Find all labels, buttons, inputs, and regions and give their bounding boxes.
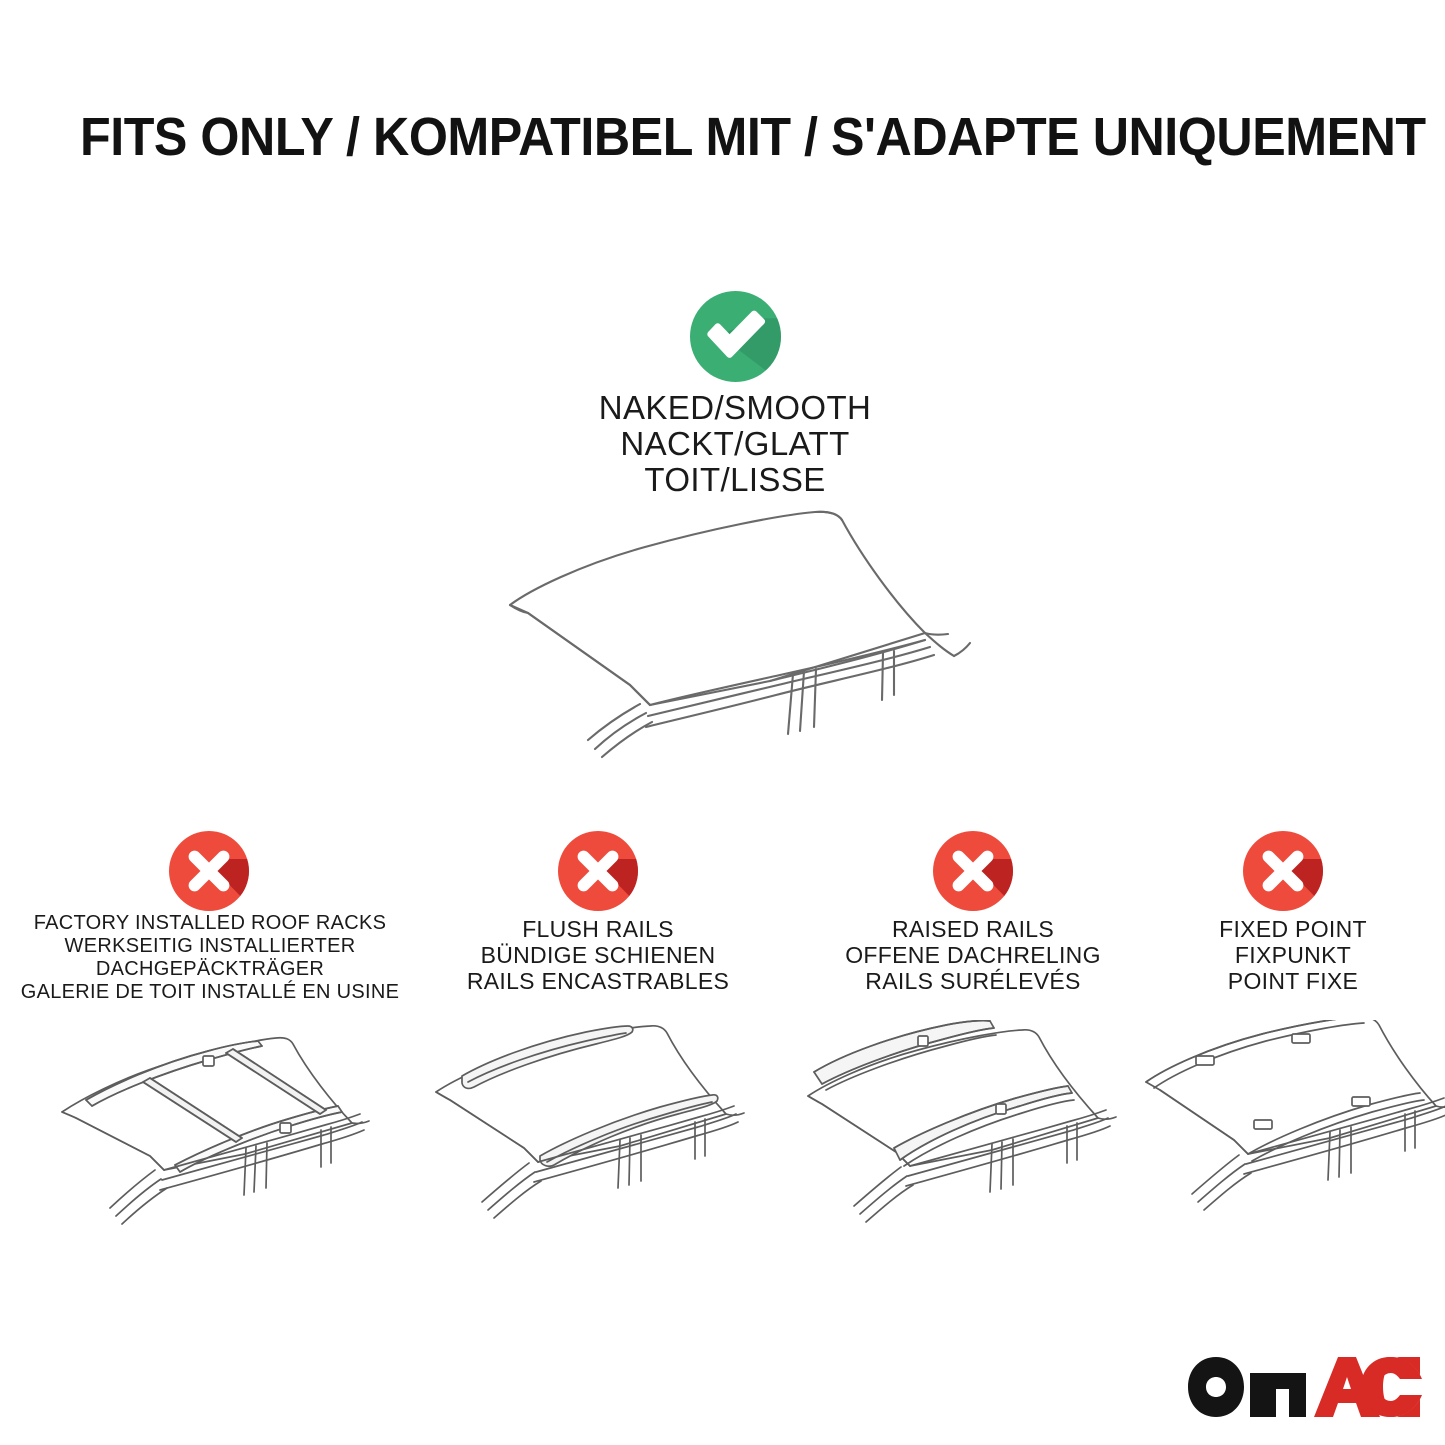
compatible-label-line-1: NAKED/SMOOTH [485,390,985,426]
raised-rails-illustration [790,1020,1140,1235]
logo-letter-c [1361,1357,1422,1417]
naked-smooth-roof-illustration [470,495,1010,765]
compatible-label: NAKED/SMOOTH NACKT/GLATT TOIT/LISSE [485,390,985,498]
factory-roof-rack-illustration [40,1020,390,1235]
label-line-4: GALERIE DE TOIT INSTALLÉ EN USINE [10,981,410,1004]
logo-letter-o [1188,1357,1244,1417]
x-circle-icon-factory-racks [169,831,249,911]
label-line-2: BÜNDIGE SCHIENEN [428,942,768,968]
x-circle-icon-fixed-point [1243,831,1323,911]
page-title: FITS ONLY / KOMPATIBEL MIT / S'ADAPTE UN… [80,106,1280,168]
label-line-2: OFFENE DACHRELING [798,942,1148,968]
flush-rails-label: FLUSH RAILS BÜNDIGE SCHIENEN RAILS ENCAS… [428,916,768,994]
fixed-point-label: FIXED POINT FIXPUNKT POINT FIXE [1133,916,1445,994]
raised-rails-label: RAISED RAILS OFFENE DACHRELING RAILS SUR… [798,916,1148,994]
fixed-point-illustration [1140,1020,1445,1235]
label-line-1: FIXED POINT [1133,916,1445,942]
label-line-2: WERKSEITIG INSTALLIERTER [10,935,410,958]
label-line-1: RAISED RAILS [798,916,1148,942]
compatible-label-line-2: NACKT/GLATT [485,426,985,462]
flush-rails-illustration [420,1020,770,1235]
label-line-3: RAILS ENCASTRABLES [428,968,768,994]
omac-logo [1186,1355,1422,1419]
label-line-3: RAILS SURÉLEVÉS [798,968,1148,994]
compatibility-infographic: FITS ONLY / KOMPATIBEL MIT / S'ADAPTE UN… [0,0,1445,1445]
compatible-label-line-3: TOIT/LISSE [485,462,985,498]
label-line-1: FLUSH RAILS [428,916,768,942]
factory-installed-roof-racks-label: FACTORY INSTALLED ROOF RACKS WERKSEITIG … [10,912,410,1004]
label-line-2: FIXPUNKT [1133,942,1445,968]
label-line-3: DACHGEPÄCKTRÄGER [10,958,410,981]
check-circle-icon [690,291,781,382]
logo-letter-m [1250,1373,1306,1417]
x-circle-icon-flush-rails [558,831,638,911]
x-circle-icon-raised-rails [933,831,1013,911]
label-line-1: FACTORY INSTALLED ROOF RACKS [10,912,410,935]
label-line-3: POINT FIXE [1133,968,1445,994]
